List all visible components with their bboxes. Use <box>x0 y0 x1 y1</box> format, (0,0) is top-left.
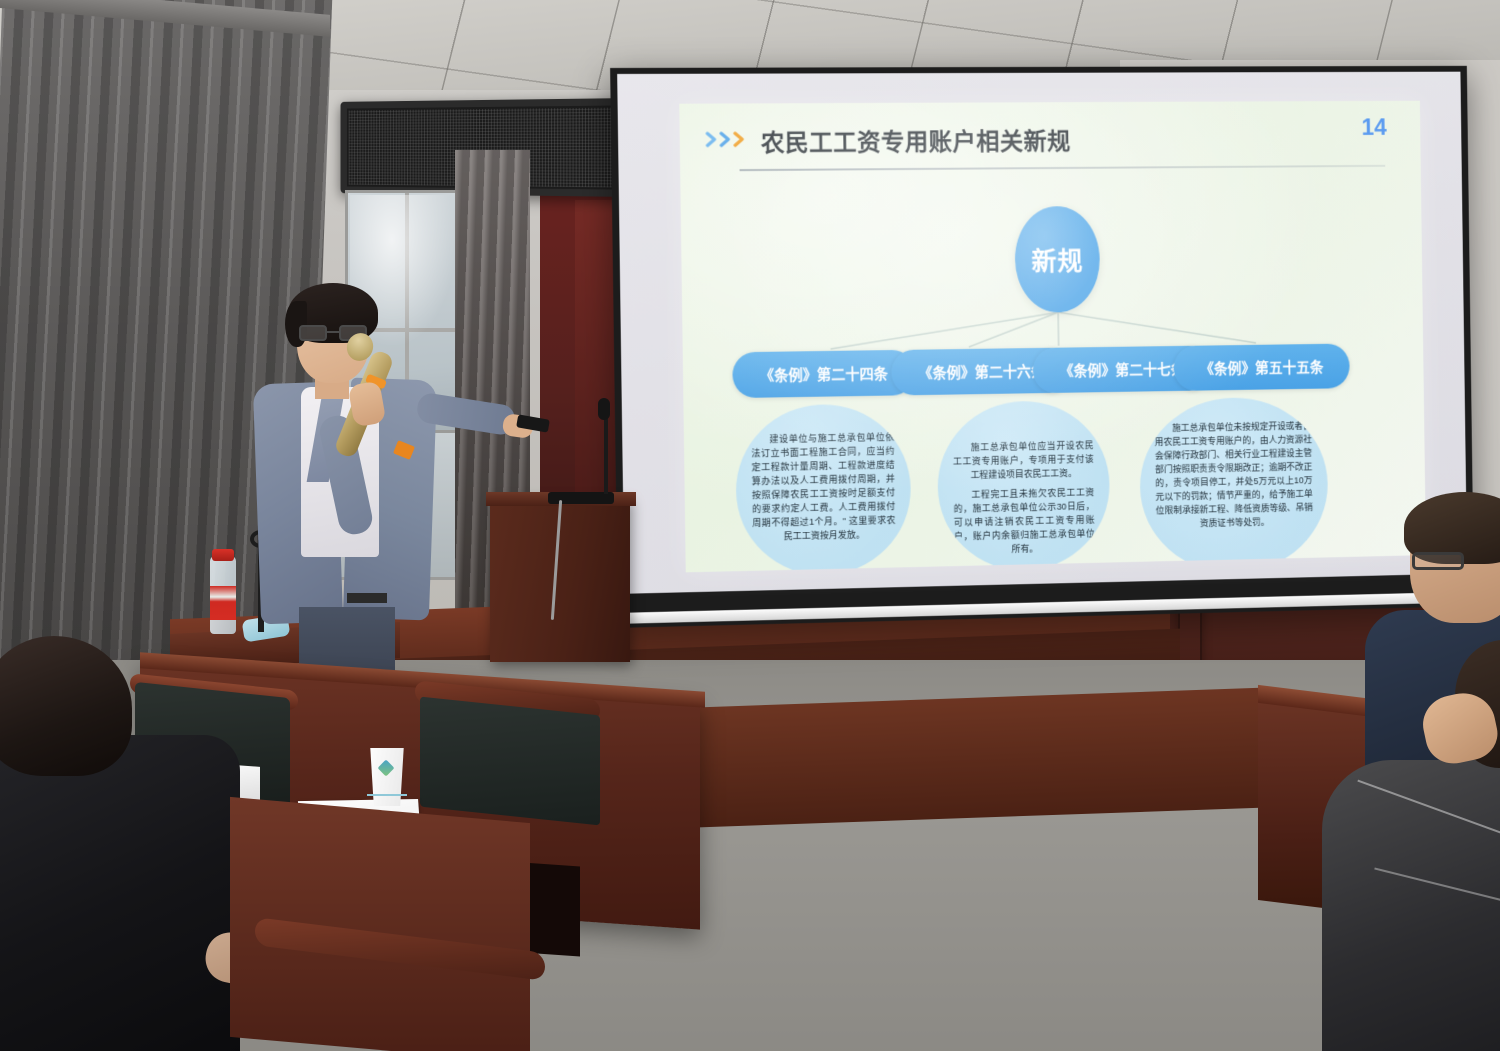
header-divider <box>740 165 1386 171</box>
glasses-lens-left <box>299 325 327 341</box>
glasses-bridge <box>327 331 339 333</box>
water-bottle-cap <box>212 549 234 561</box>
root-node-label: 新规 <box>1031 241 1083 278</box>
water-bottle-label <box>210 586 236 620</box>
bubble-paragraph: 施工总承包单位未按规定开设或者使用农民工工资专用账户的，由人力资源社会保障行政部… <box>1154 420 1313 532</box>
slide-header: 农民工工资专用账户相关新规 14 <box>679 101 1421 182</box>
diagram-bubble-3: 施工总承包单位未按规定开设或者使用农民工工资专用账户的，由人力资源社会保障行政部… <box>1139 396 1329 572</box>
presenter <box>255 275 545 675</box>
glasses-icon <box>1412 552 1464 570</box>
diagram-bubble-2: 施工总承包单位应当开设农民工工资专用账户，专项用于支付该工程建设项目农民工工资。… <box>937 400 1111 572</box>
bubble-paragraph: 工程完工且未拖欠农民工工资的，施工总承包单位公示30日后，可以申请注销农民工工资… <box>953 486 1095 558</box>
diagram-pill-4: 《条例》第五十五条 <box>1173 344 1349 391</box>
diagram-pill-1: 《条例》第二十四条 <box>732 350 915 398</box>
audience-left-body <box>0 735 240 1051</box>
podium-microphone-stem <box>604 408 608 494</box>
slide-page-number: 14 <box>1361 114 1386 141</box>
diagram-bubble-1: 建设单位与施工总承包单位依法订立书面工程施工合同，应当约定工程款计量周期、工程款… <box>735 403 912 572</box>
pill-label: 《条例》第五十五条 <box>1200 356 1324 378</box>
audience-right-front-body <box>1322 760 1500 1051</box>
pill-label: 《条例》第二十六条 <box>918 360 1045 383</box>
screen-surface: 农民工工资专用账户相关新规 14 新规 <box>617 72 1467 594</box>
presentation-slide: 农民工工资专用账户相关新规 14 新规 <box>679 101 1426 573</box>
slide-title: 农民工工资专用账户相关新规 <box>761 122 1071 158</box>
projection-screen: 农民工工资专用账户相关新规 14 新规 <box>610 66 1474 628</box>
conference-room-scene: 农民工工资专用账户相关新规 14 新规 <box>0 0 1500 1051</box>
diagram-pill-row: 《条例》第二十四条 《条例》第二十六条 《条例》第二十七条 《条例》第五十五条 <box>683 342 1424 402</box>
paper-cup-band <box>367 794 407 796</box>
pill-label: 《条例》第二十七条 <box>1060 358 1185 380</box>
slide-diagram: 新规 《条例》第二十四条 《条例》第二十六条 《条例》第二十七条 <box>680 170 1426 572</box>
diagram-root-node: 新规 <box>1014 206 1100 313</box>
bubble-paragraph: 建设单位与施工总承包单位依法订立书面工程施工合同，应当约定工程款计量周期、工程款… <box>751 431 896 545</box>
double-chevron-right-icon <box>705 131 746 147</box>
bubble-paragraph: 施工总承包单位应当开设农民工工资专用账户，专项用于支付该工程建设项目农民工工资。 <box>953 439 1094 483</box>
chair-seat-2[interactable] <box>420 697 600 826</box>
diagram-bubble-row: 建设单位与施工总承包单位依法订立书面工程施工合同，应当约定工程款计量周期、工程款… <box>683 395 1426 573</box>
pill-label: 《条例》第二十四条 <box>760 362 888 385</box>
presenter-belt <box>347 593 387 603</box>
podium-microphone-head <box>598 398 610 420</box>
